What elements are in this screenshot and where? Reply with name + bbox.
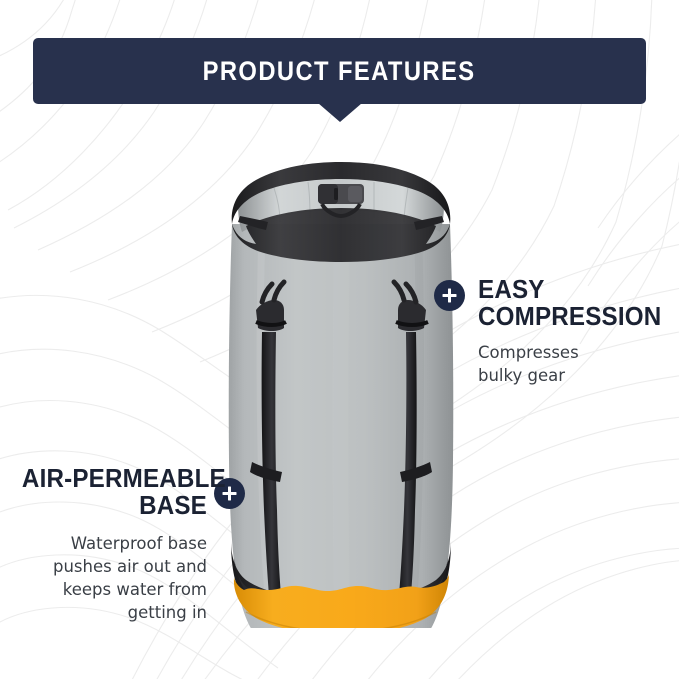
banner-pointer-triangle xyxy=(318,103,362,122)
callout-body-line4: getting in xyxy=(8,601,207,624)
callout-body-line2: pushes air out and xyxy=(8,555,207,578)
plus-icon[interactable] xyxy=(434,280,465,311)
product-features-infographic: PRODUCT FEATURES xyxy=(0,0,679,679)
page-title: PRODUCT FEATURES xyxy=(203,56,476,87)
callout-heading-line2: COMPRESSION xyxy=(478,303,665,330)
callout-heading-line1: EASY xyxy=(478,276,665,303)
callout-easy-compression: EASY COMPRESSION Compresses bulky gear xyxy=(434,276,679,387)
callout-body-line3: keeps water from xyxy=(8,578,207,601)
callout-heading-line2: BASE xyxy=(22,492,207,519)
callout-heading-line1: AIR-PERMEABLE xyxy=(22,465,207,492)
callout-body-line2: bulky gear xyxy=(478,364,679,387)
product-features-banner: PRODUCT FEATURES xyxy=(33,38,646,104)
callout-body-line1: Waterproof base xyxy=(8,532,207,555)
callout-body: Compresses bulky gear xyxy=(478,341,679,387)
callout-body-line1: Compresses xyxy=(478,341,679,364)
callout-body: Waterproof base pushes air out and keeps… xyxy=(8,532,207,624)
callout-air-permeable-base: AIR-PERMEABLE BASE Waterproof base pushe… xyxy=(8,465,253,624)
product-image-compression-sack xyxy=(222,160,460,628)
